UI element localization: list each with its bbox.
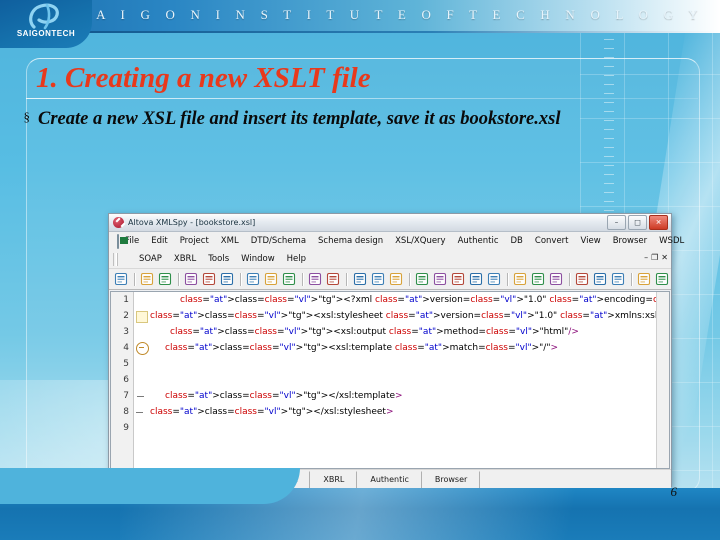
validate-icon[interactable] — [432, 271, 448, 287]
mdi-window-buttons: – ❐ ✕ — [644, 252, 668, 264]
menu-item-window[interactable]: Window — [235, 250, 281, 268]
find-icon[interactable] — [352, 271, 368, 287]
print-icon[interactable] — [219, 271, 235, 287]
spy-check-icon[interactable] — [486, 271, 502, 287]
menu-item-project[interactable]: Project — [174, 232, 215, 250]
code-line[interactable]: class="at">class=class="vl">"tg"><xsl:ou… — [150, 324, 669, 340]
save-all-icon[interactable] — [201, 271, 217, 287]
code-line[interactable]: class="at">class=class="vl">"tg"></xsl:t… — [150, 388, 669, 404]
footer-curve — [0, 468, 300, 504]
fold-collapse-icon[interactable] — [136, 342, 149, 355]
copy-icon[interactable] — [263, 271, 279, 287]
menu-row-2[interactable]: SOAPXBRLToolsWindowHelp – ❐ ✕ — [111, 250, 671, 268]
code-line[interactable]: class="at">class=class="vl">"tg"></xsl:s… — [150, 404, 669, 420]
menu-item-xsl-xquery[interactable]: XSL/XQuery — [389, 232, 451, 250]
minimize-icon: – — [615, 219, 619, 226]
menu-item-xml[interactable]: XML — [215, 232, 245, 250]
xmlspy-window[interactable]: Altova XMLSpy - [bookstore.xsl] – □ ✕ Fi… — [108, 213, 672, 487]
fold-markers[interactable] — [111, 292, 150, 468]
paste-icon[interactable] — [281, 271, 297, 287]
new-file-icon[interactable] — [113, 271, 129, 287]
menu-item-help[interactable]: Help — [281, 250, 312, 268]
bullet-text: Create a new XSL file and insert its tem… — [38, 106, 656, 132]
menu-item-edit[interactable]: Edit — [145, 232, 173, 250]
page-number: 6 — [671, 484, 678, 500]
institute-name: S A I G O N I N S T I T U T E O F T E C … — [74, 4, 704, 26]
code-line[interactable]: class="at">class=class="vl">"tg"><xsl:st… — [150, 308, 669, 324]
code-text[interactable]: class="at">class=class="vl">"tg"><?xml c… — [150, 292, 669, 468]
code-line[interactable]: class="at">class=class="vl">"tg"><xsl:te… — [150, 340, 669, 356]
slide: S A I G O N I N S T I T U T E O F T E C … — [0, 0, 720, 540]
menu-row-1[interactable]: FileEditProjectXMLDTD/SchemaSchema desig… — [111, 232, 671, 250]
page-title: 1. Creating a new XSLT file — [36, 58, 656, 98]
view-tab-xbrl[interactable]: XBRL — [310, 471, 357, 489]
logo: SAIGONTECH — [0, 0, 92, 48]
app-document-icon — [117, 234, 119, 249]
altova-icon — [113, 217, 124, 228]
menu-grip-2[interactable] — [113, 253, 118, 266]
menu-item-soap[interactable]: SOAP — [133, 250, 168, 268]
restore-icon: □ — [634, 219, 641, 226]
undo-icon[interactable] — [307, 271, 323, 287]
title-divider — [26, 98, 698, 99]
menu-item-view[interactable]: View — [575, 232, 607, 250]
fold-box-icon[interactable] — [136, 311, 148, 323]
window-title: Altova XMLSpy - [bookstore.xsl] — [128, 216, 255, 229]
check-wellformed-icon[interactable] — [414, 271, 430, 287]
restore-button[interactable]: □ — [628, 215, 647, 230]
toolbar[interactable] — [109, 269, 671, 290]
cut-icon[interactable] — [245, 271, 261, 287]
replace-icon[interactable] — [388, 271, 404, 287]
fold-end-icon — [136, 412, 143, 413]
text-view-icon[interactable] — [592, 271, 608, 287]
bullet-marker: § — [14, 106, 30, 132]
reload-icon[interactable] — [157, 271, 173, 287]
menu-item-db[interactable]: DB — [505, 232, 529, 250]
editor-vertical-scrollbar[interactable] — [656, 292, 669, 468]
code-line[interactable] — [150, 420, 669, 436]
mdi-close-icon[interactable]: ✕ — [661, 252, 668, 264]
assign-schema-icon[interactable] — [468, 271, 484, 287]
menu-item-browser[interactable]: Browser — [607, 232, 653, 250]
menu-item-xbrl[interactable]: XBRL — [168, 250, 202, 268]
menu-item-tools[interactable]: Tools — [202, 250, 235, 268]
append-row-icon[interactable] — [636, 271, 652, 287]
code-editor[interactable]: 123456789 class="at">class=class="vl">"t… — [110, 291, 670, 469]
open-folder-icon[interactable] — [139, 271, 155, 287]
header-rule — [0, 31, 720, 33]
bullet-item: § Create a new XSL file and insert its t… — [14, 106, 674, 132]
logo-wordmark: SAIGONTECH — [6, 29, 86, 38]
window-buttons: – □ ✕ — [607, 215, 668, 230]
close-icon: ✕ — [656, 219, 662, 226]
code-line[interactable]: class="at">class=class="vl">"tg"><?xml c… — [150, 292, 669, 308]
assign-dtd-icon[interactable] — [450, 271, 466, 287]
menu-row-1-items[interactable]: FileEditProjectXMLDTD/SchemaSchema desig… — [119, 232, 690, 250]
code-line[interactable] — [150, 356, 669, 372]
menu-item-dtd-schema[interactable]: DTD/Schema — [245, 232, 312, 250]
menu-bar[interactable]: FileEditProjectXMLDTD/SchemaSchema desig… — [109, 232, 671, 269]
close-button[interactable]: ✕ — [649, 215, 668, 230]
xquery-icon[interactable] — [548, 271, 564, 287]
menu-item-authentic[interactable]: Authentic — [452, 232, 505, 250]
menu-item-schema-design[interactable]: Schema design — [312, 232, 389, 250]
window-titlebar[interactable]: Altova XMLSpy - [bookstore.xsl] – □ ✕ — [109, 214, 671, 232]
mdi-minimize-icon[interactable]: – — [644, 252, 648, 264]
xsl-transform-icon[interactable] — [512, 271, 528, 287]
fold-end-icon — [137, 396, 144, 397]
xslfo-icon[interactable] — [530, 271, 546, 287]
redo-icon[interactable] — [325, 271, 341, 287]
minimize-button[interactable]: – — [607, 215, 626, 230]
saigontech-logo-icon — [24, 2, 70, 30]
menu-item-wsdl[interactable]: WSDL — [653, 232, 690, 250]
find-next-icon[interactable] — [370, 271, 386, 287]
menu-item-convert[interactable]: Convert — [529, 232, 575, 250]
view-tab-authentic[interactable]: Authentic — [357, 471, 422, 489]
save-icon[interactable] — [183, 271, 199, 287]
grid-view-icon[interactable] — [574, 271, 590, 287]
code-line[interactable] — [150, 372, 669, 388]
insert-row-icon[interactable] — [654, 271, 670, 287]
mdi-restore-icon[interactable]: ❐ — [651, 252, 658, 264]
view-tab-browser[interactable]: Browser — [422, 471, 480, 489]
table-view-icon[interactable] — [610, 271, 626, 287]
menu-row-2-items[interactable]: SOAPXBRLToolsWindowHelp — [133, 250, 312, 268]
